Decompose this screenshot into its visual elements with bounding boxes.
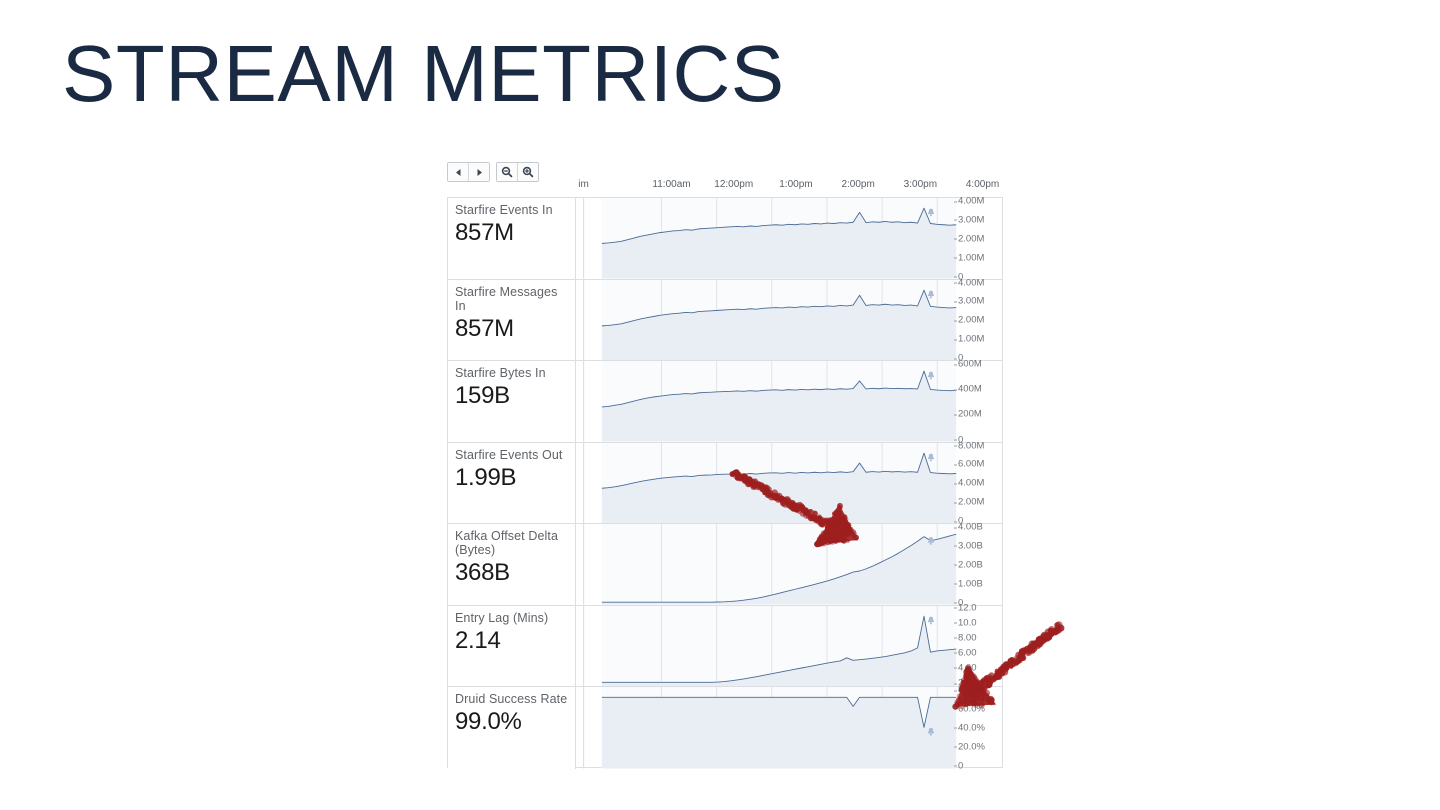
time-axis-label: 11:00am <box>652 179 690 190</box>
metric-sparkline[interactable]: 4.00M3.00M2.00M1.00M0 <box>576 280 1002 361</box>
metric-sparkline[interactable]: 4.00M3.00M2.00M1.00M0 <box>576 198 1002 279</box>
metric-name: Kafka Offset Delta (Bytes) <box>455 529 569 557</box>
metric-sparkline[interactable]: 80.0%60.0%40.0%20.0%0 <box>576 687 1002 769</box>
sparkline-svg <box>576 606 1002 687</box>
metric-rows: Starfire Events In857M4.00M3.00M2.00M1.0… <box>447 197 1003 768</box>
sparkline-svg <box>576 361 1002 442</box>
metric-row[interactable]: Starfire Bytes In159B600M400M200M0 <box>448 361 1002 443</box>
zoom-in-button[interactable] <box>517 163 538 181</box>
sparkline-svg <box>576 443 1002 524</box>
triangle-left-icon <box>454 168 463 177</box>
sparkline-svg <box>576 687 1002 769</box>
metric-sparkline[interactable]: 600M400M200M0 <box>576 361 1002 442</box>
time-axis-label: 4:00pm <box>966 179 999 190</box>
metric-row[interactable]: Kafka Offset Delta (Bytes)368B4.00B3.00B… <box>448 524 1002 606</box>
metric-name: Starfire Messages In <box>455 285 569 313</box>
metric-row[interactable]: Entry Lag (Mins)2.1412.010.08.006.004.00… <box>448 606 1002 688</box>
metric-label-cell: Starfire Events In857M <box>448 198 576 279</box>
metric-sparkline[interactable]: 8.00M6.00M4.00M2.00M0 <box>576 443 1002 524</box>
metric-row[interactable]: Starfire Messages In857M4.00M3.00M2.00M1… <box>448 280 1002 362</box>
metric-name: Starfire Bytes In <box>455 366 569 380</box>
metric-row[interactable]: Starfire Events In857M4.00M3.00M2.00M1.0… <box>448 198 1002 280</box>
sparkline-svg <box>576 198 1002 279</box>
magnifier-plus-icon <box>522 166 534 178</box>
sparkline-svg <box>576 280 1002 361</box>
pan-right-button[interactable] <box>468 163 489 181</box>
metric-value: 159B <box>455 381 569 410</box>
metric-value: 1.99B <box>455 463 569 492</box>
metric-label-cell: Starfire Messages In857M <box>448 280 576 361</box>
metric-label-cell: Kafka Offset Delta (Bytes)368B <box>448 524 576 605</box>
metric-name: Starfire Events Out <box>455 448 569 462</box>
metric-value: 2.14 <box>455 626 569 655</box>
chart-toolbar <box>447 162 539 182</box>
metric-sparkline[interactable]: 4.00B3.00B2.00B1.00B0 <box>576 524 1002 605</box>
time-axis-label: im <box>578 179 589 190</box>
metric-row[interactable]: Druid Success Rate99.0%80.0%60.0%40.0%20… <box>448 687 1002 769</box>
time-axis: im11:00am12:00pm1:00pm2:00pm3:00pm4:00pm <box>575 179 1004 197</box>
metric-value: 99.0% <box>455 707 569 736</box>
metrics-dashboard: im11:00am12:00pm1:00pm2:00pm3:00pm4:00pm… <box>447 162 1004 768</box>
metric-value: 857M <box>455 218 569 247</box>
metric-label-cell: Entry Lag (Mins)2.14 <box>448 606 576 687</box>
pan-left-button[interactable] <box>448 163 468 181</box>
metric-value: 857M <box>455 314 569 343</box>
pan-button-group <box>447 162 490 182</box>
time-axis-label: 3:00pm <box>904 179 937 190</box>
metric-sparkline[interactable]: 12.010.08.006.004.002.00 <box>576 606 1002 687</box>
metric-label-cell: Starfire Bytes In159B <box>448 361 576 442</box>
triangle-right-icon <box>475 168 484 177</box>
page-title: STREAM METRICS <box>62 34 785 114</box>
metric-row[interactable]: Starfire Events Out1.99B8.00M6.00M4.00M2… <box>448 443 1002 525</box>
metric-label-cell: Druid Success Rate99.0% <box>448 687 576 769</box>
time-axis-label: 1:00pm <box>779 179 812 190</box>
metric-name: Entry Lag (Mins) <box>455 611 569 625</box>
zoom-out-button[interactable] <box>497 163 517 181</box>
magnifier-minus-icon <box>501 166 513 178</box>
metric-value: 368B <box>455 558 569 587</box>
metric-name: Starfire Events In <box>455 203 569 217</box>
metric-label-cell: Starfire Events Out1.99B <box>448 443 576 524</box>
sparkline-area <box>602 697 956 768</box>
sparkline-svg <box>576 524 1002 605</box>
time-axis-label: 2:00pm <box>841 179 874 190</box>
metric-name: Druid Success Rate <box>455 692 569 706</box>
zoom-button-group <box>496 162 539 182</box>
time-axis-label: 12:00pm <box>714 179 753 190</box>
